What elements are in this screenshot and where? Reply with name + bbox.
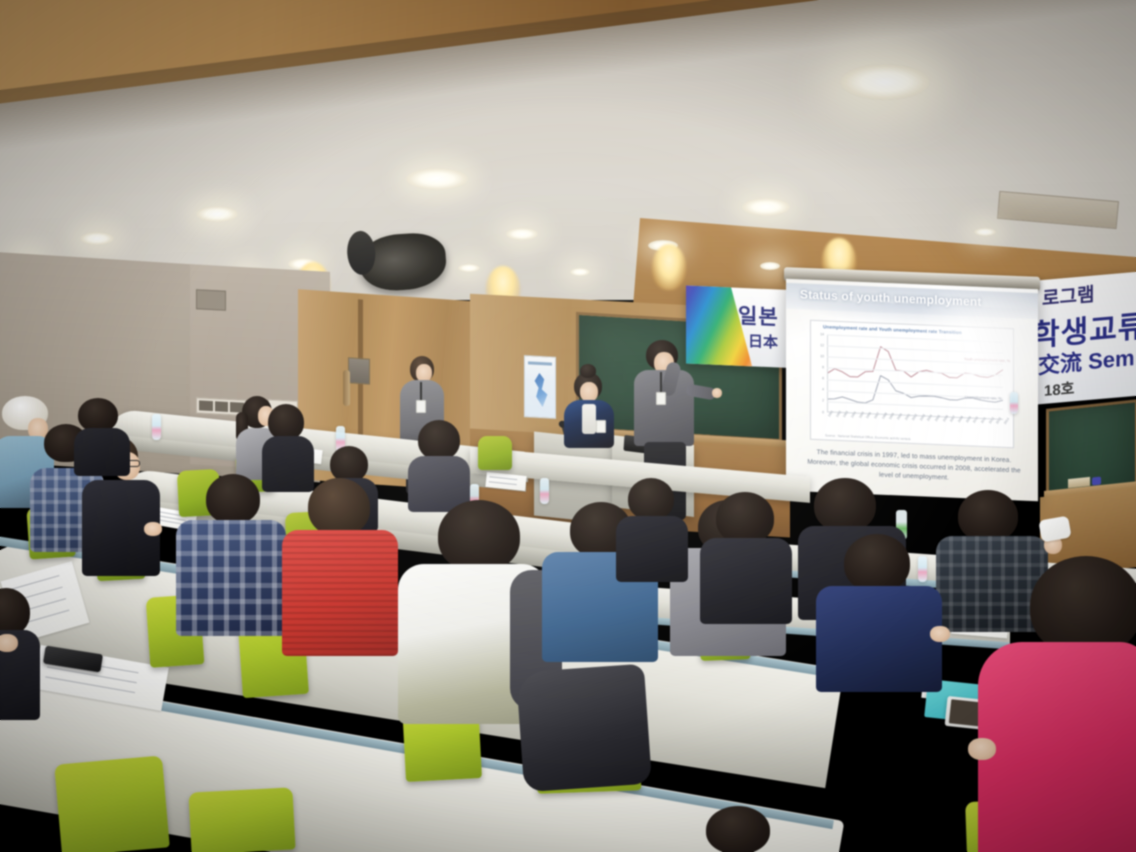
head [268,404,304,440]
torso [978,642,1136,852]
downlight-2 [406,168,468,190]
water-bottle[interactable] [918,556,927,582]
hand [930,626,950,642]
torso [616,516,688,582]
chart-x-tick: 1993 [842,410,849,418]
face [580,382,598,402]
chart-y-tick: 12 [820,343,824,347]
water-bottle[interactable] [540,478,549,504]
hand [144,522,162,536]
wall-speaker-icon [196,289,226,311]
lanyard [420,382,422,400]
lanyard [660,372,662,392]
banner-right-room-number: 18호 [1044,377,1075,401]
screen-glare [908,279,1038,431]
head [308,478,370,536]
downlight-11 [458,264,480,272]
banner-right: 로그램 학생교류 交流 Semi 18호 [1034,271,1136,405]
torso [700,538,792,624]
downlight-4 [196,206,238,222]
torso [262,436,314,492]
water-bottle[interactable] [152,414,161,440]
head [814,478,876,532]
chalk-piece[interactable] [1092,477,1101,486]
head [206,474,260,524]
head [844,534,910,592]
torso [74,428,130,476]
chart-y-tick: 4 [822,387,824,391]
name-badge [596,420,606,433]
lecture-hall-photo: 일본 츄오 日本 로그램 학생교류 交流 Semi 18호 Status of … [0,0,1136,852]
head [78,398,118,432]
chart-y-tick: 2 [822,399,824,403]
hanging-light-4 [652,244,686,290]
downlight-14 [974,228,996,236]
water-bottle[interactable] [1010,392,1018,414]
chart-y-tick: 6 [822,376,824,380]
downlight-3 [742,198,790,216]
door-handle[interactable] [343,370,350,406]
downlight-5 [80,232,114,245]
head [330,446,368,482]
blouse [582,404,596,434]
downlight-1 [840,64,930,100]
head [958,490,1018,542]
door-window [348,357,370,385]
chart-y-tick: 8 [822,365,824,369]
head [628,478,674,520]
banner-left: 일본 츄오 日本 [686,285,802,368]
hand [712,388,722,398]
hand [0,634,18,652]
draped-jacket [516,664,652,793]
torso [282,530,398,656]
wall-poster [524,355,556,419]
head [1030,556,1136,656]
torso [816,586,942,692]
head [418,420,460,460]
chart-y-tick-labels: 14121086420 [811,333,825,414]
torso [176,520,286,636]
chart-y-tick: 14 [820,332,824,336]
head [716,492,774,544]
head [438,500,520,572]
chair[interactable] [54,755,170,852]
downlight-12 [570,268,590,276]
head [706,806,770,852]
chart-y-tick: 10 [820,354,824,358]
chair[interactable] [478,436,512,470]
downlight-7 [506,228,538,240]
banner-left-japanese: 日本 [748,330,778,352]
chart-y-tick: 0 [822,410,824,414]
chair[interactable] [188,787,295,852]
hand [968,738,996,760]
hair-bun [580,364,596,378]
projection-screen: Status of youth unemployment Unemploymen… [786,279,1038,502]
downlight-13 [760,262,780,270]
name-badge [656,392,666,405]
name-badge [416,400,426,413]
